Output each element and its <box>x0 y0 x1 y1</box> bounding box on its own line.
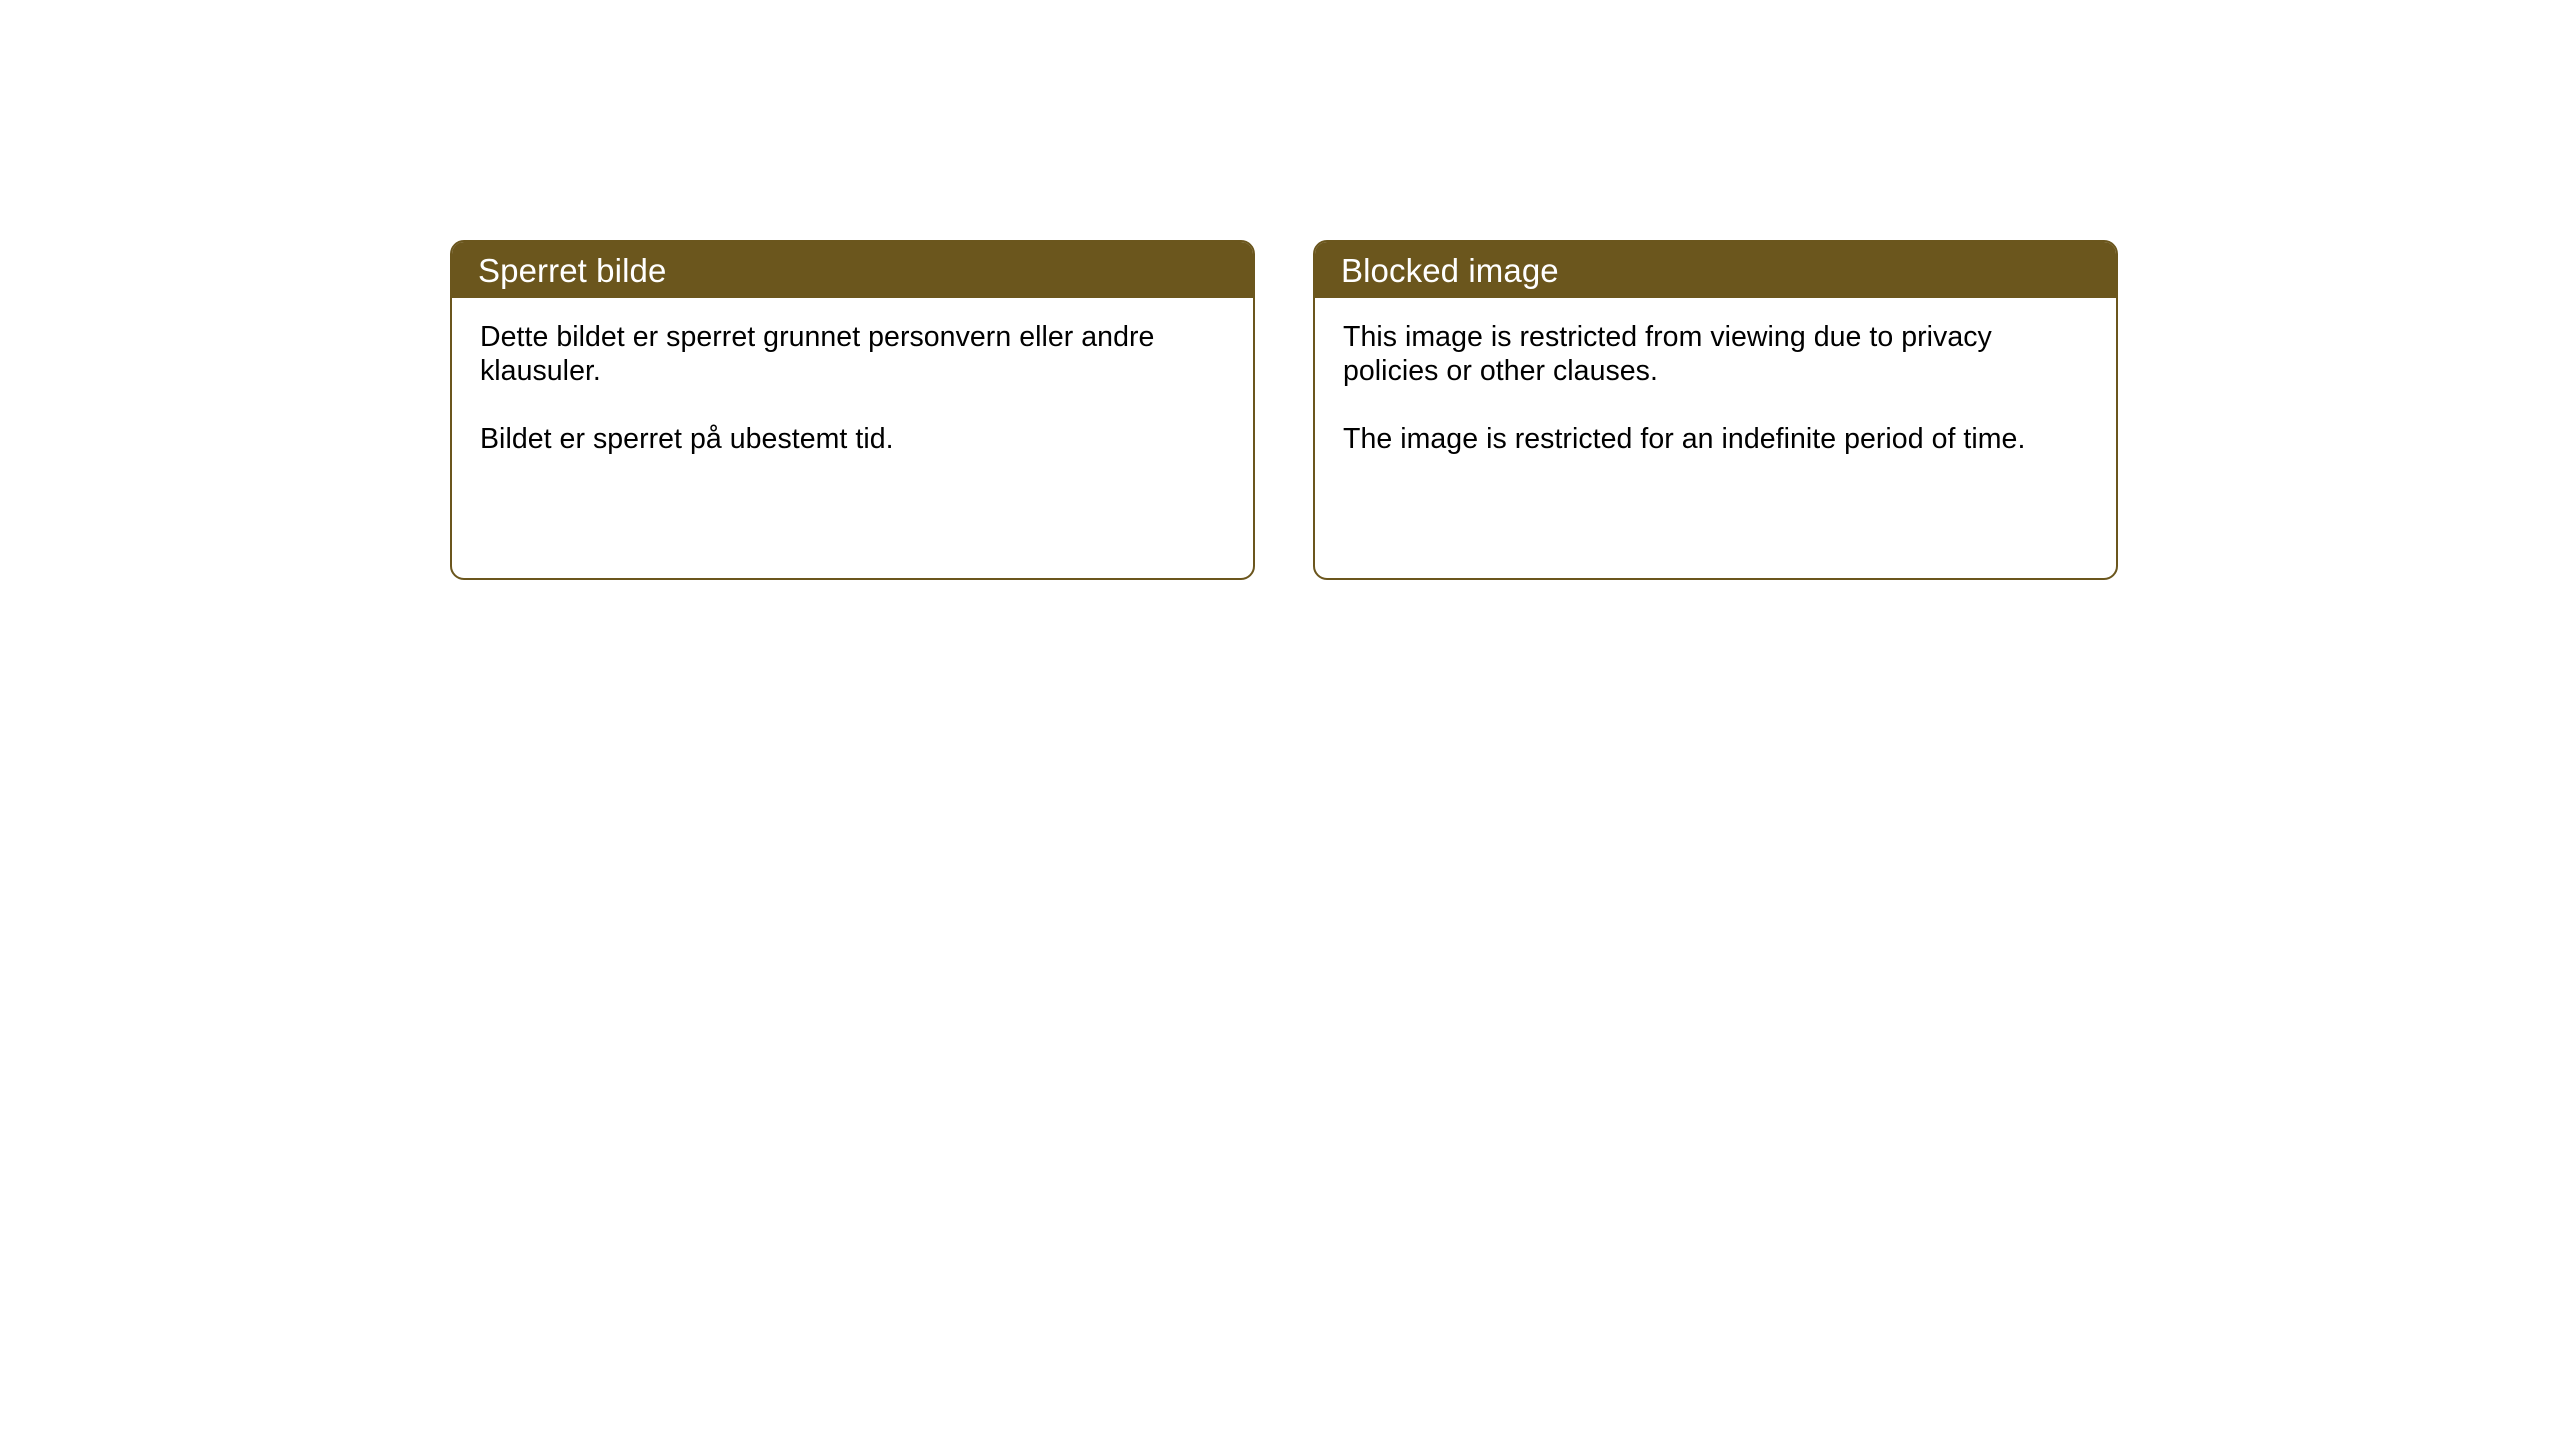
card-header-norwegian: Sperret bilde <box>452 242 1253 298</box>
card-title-english: Blocked image <box>1341 254 1559 287</box>
page-root: Sperret bilde Dette bildet er sperret gr… <box>0 0 2560 1440</box>
card-paragraph-reason-english: This image is restricted from viewing du… <box>1343 320 2090 388</box>
blocked-image-notice-card-norwegian: Sperret bilde Dette bildet er sperret gr… <box>450 240 1255 580</box>
blocked-image-notice-card-english: Blocked image This image is restricted f… <box>1313 240 2118 580</box>
card-body-english: This image is restricted from viewing du… <box>1315 298 2116 456</box>
card-title-norwegian: Sperret bilde <box>478 254 666 287</box>
card-paragraph-reason-norwegian: Dette bildet er sperret grunnet personve… <box>480 320 1227 388</box>
card-header-english: Blocked image <box>1315 242 2116 298</box>
card-paragraph-duration-norwegian: Bildet er sperret på ubestemt tid. <box>480 422 1227 456</box>
card-body-norwegian: Dette bildet er sperret grunnet personve… <box>452 298 1253 456</box>
card-paragraph-duration-english: The image is restricted for an indefinit… <box>1343 422 2090 456</box>
